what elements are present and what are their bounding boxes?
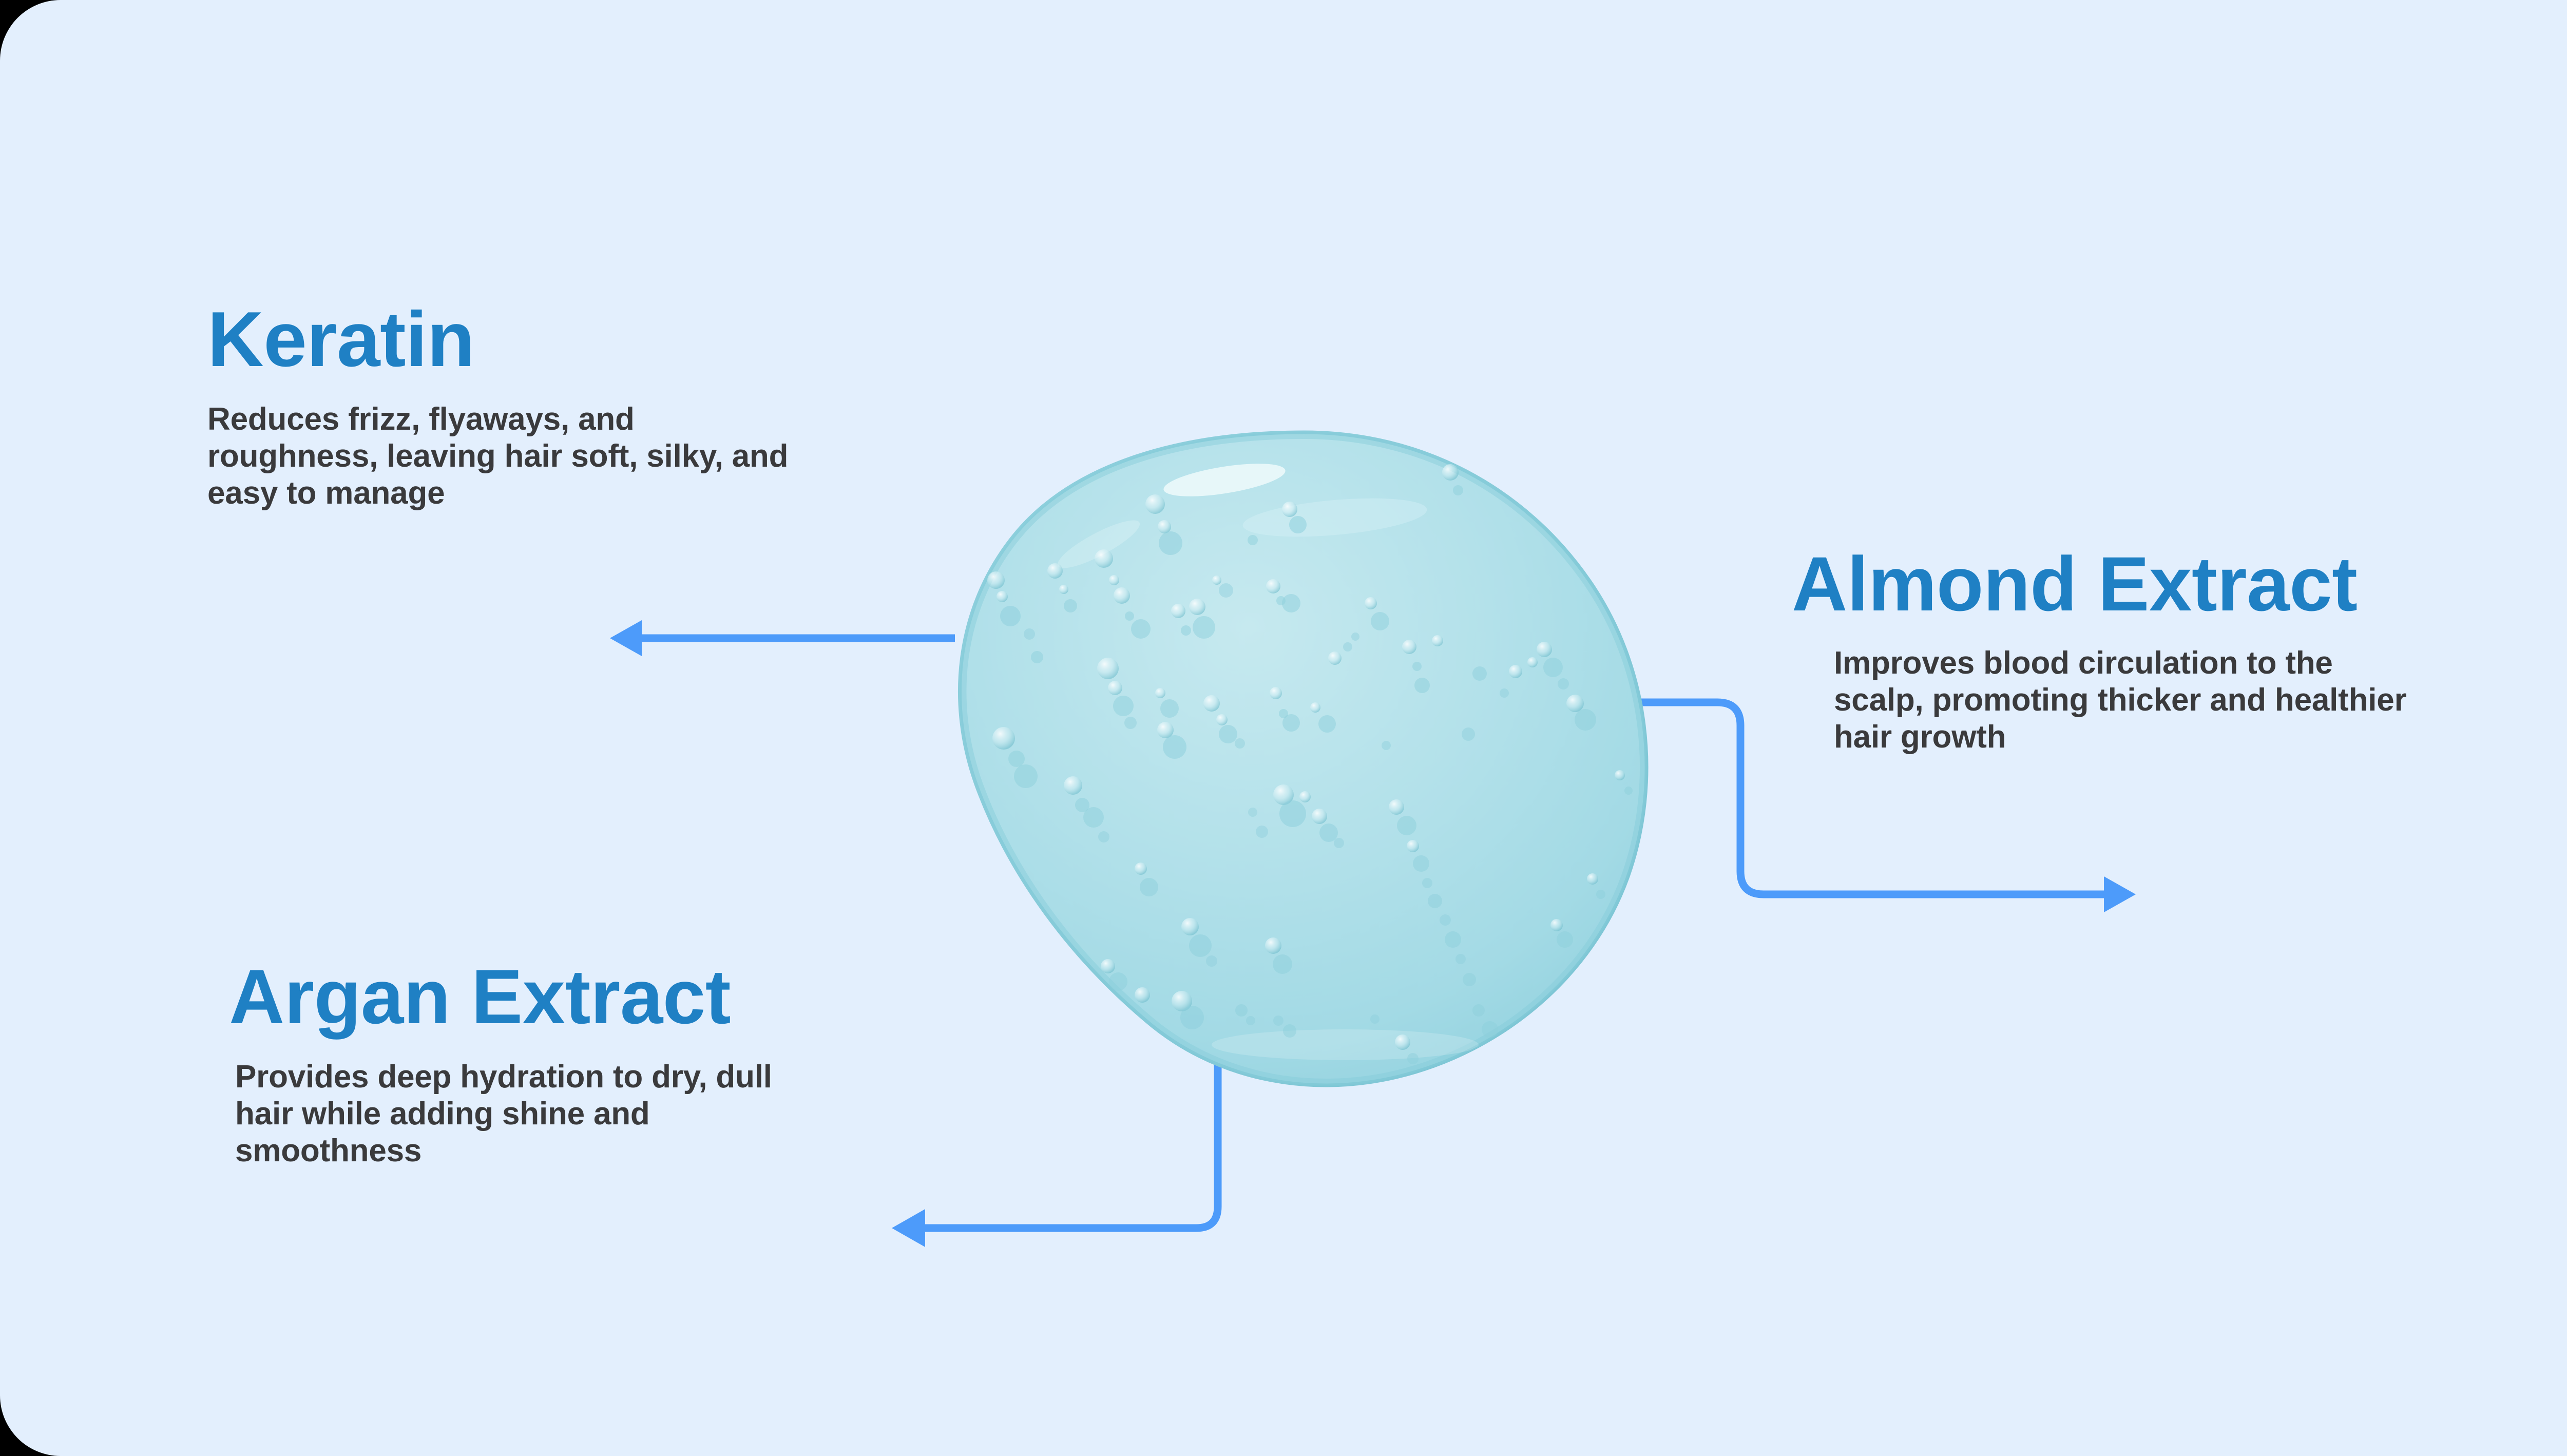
keratin-description: Reduces frizz, flyaways, and roughness, … bbox=[207, 401, 813, 512]
argan-extract-title: Argan Extract bbox=[229, 958, 831, 1035]
ingredient-almond-extract: Almond Extract Improves blood circulatio… bbox=[1792, 545, 2429, 756]
argan-extract-description: Provides deep hydration to dry, dull hai… bbox=[235, 1059, 831, 1170]
arrowhead-left-argan bbox=[892, 1209, 925, 1247]
infographic-canvas: Keratin Reduces frizz, flyaways, and rou… bbox=[0, 0, 2567, 1456]
ingredient-keratin: Keratin Reduces frizz, flyaways, and rou… bbox=[207, 300, 813, 512]
keratin-title: Keratin bbox=[207, 300, 813, 378]
arrowhead-left-keratin bbox=[610, 620, 642, 656]
arrowhead-right-almond bbox=[2104, 876, 2136, 912]
gel-drop-graphic bbox=[945, 426, 1663, 1088]
almond-extract-title: Almond Extract bbox=[1792, 545, 2429, 622]
connector-keratin bbox=[610, 620, 955, 656]
almond-extract-description: Improves blood circulation to the scalp,… bbox=[1834, 645, 2429, 756]
ingredient-argan-extract: Argan Extract Provides deep hydration to… bbox=[229, 958, 831, 1170]
